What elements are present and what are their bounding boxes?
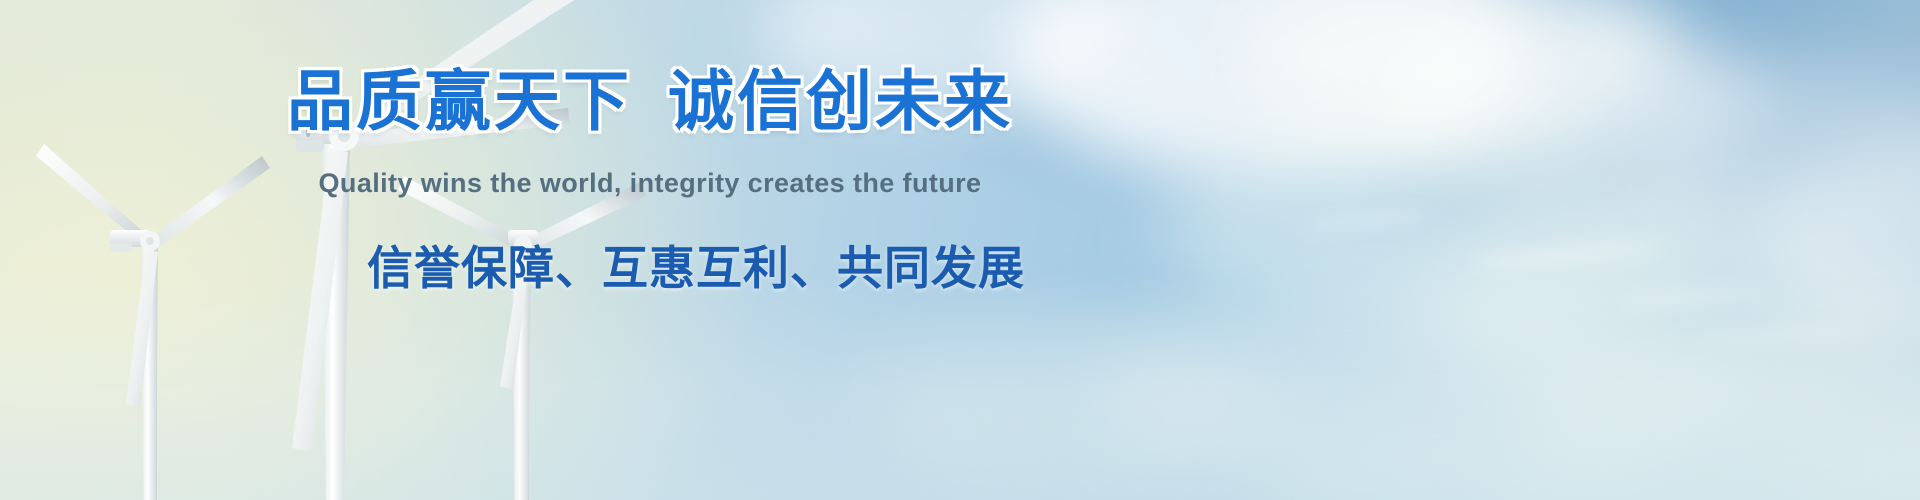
wind-turbine-group: [0, 0, 1920, 500]
wind-turbine-main: [292, 0, 684, 500]
wind-turbine-left: [36, 144, 270, 500]
wind-turbine-illustration: [0, 0, 1920, 500]
promotional-banner: 品质赢天下诚信创未来 Quality wins the world, integ…: [0, 0, 1920, 500]
wind-turbine-partial: [398, 176, 646, 500]
